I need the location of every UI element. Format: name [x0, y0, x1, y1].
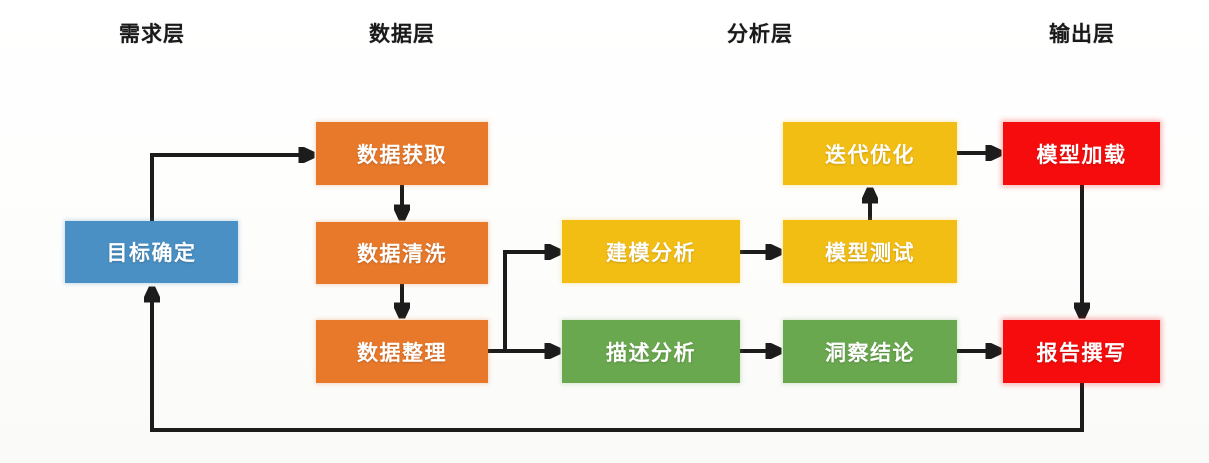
- node-modeling-analysis[interactable]: 建模分析: [562, 220, 740, 283]
- node-goal-label: 目标确定: [107, 237, 197, 267]
- node-model-test-label: 模型测试: [825, 237, 915, 267]
- node-report-writing-label: 报告撰写: [1037, 337, 1127, 367]
- node-goal[interactable]: 目标确定: [65, 221, 238, 283]
- node-descriptive-analysis[interactable]: 描述分析: [562, 320, 740, 383]
- node-data-clean[interactable]: 数据清洗: [316, 222, 488, 284]
- node-modeling-analysis-label: 建模分析: [606, 237, 696, 267]
- node-insight-conclusion[interactable]: 洞察结论: [783, 320, 957, 383]
- edge-organize-to-modeling: [488, 252, 558, 351]
- edge-goal-to-acquire: [152, 155, 312, 221]
- node-data-acquire[interactable]: 数据获取: [316, 122, 488, 185]
- node-iterative-optimization-label: 迭代优化: [825, 139, 915, 169]
- node-model-load-label: 模型加载: [1037, 139, 1127, 169]
- node-model-test[interactable]: 模型测试: [783, 220, 957, 283]
- column-header-demand: 需求层: [119, 18, 185, 48]
- column-header-analysis: 分析层: [727, 18, 793, 48]
- node-model-load[interactable]: 模型加载: [1003, 122, 1160, 185]
- node-data-organize-label: 数据整理: [357, 337, 447, 367]
- node-data-clean-label: 数据清洗: [357, 238, 447, 268]
- node-insight-conclusion-label: 洞察结论: [825, 337, 915, 367]
- node-descriptive-analysis-label: 描述分析: [606, 337, 696, 367]
- column-header-data: 数据层: [369, 18, 435, 48]
- node-iterative-optimization[interactable]: 迭代优化: [783, 122, 957, 185]
- flowchart-canvas: 需求层 数据层 分析层 输出层: [0, 0, 1209, 463]
- node-data-acquire-label: 数据获取: [357, 139, 447, 169]
- node-data-organize[interactable]: 数据整理: [316, 320, 488, 383]
- node-report-writing[interactable]: 报告撰写: [1003, 320, 1160, 383]
- column-header-output: 输出层: [1049, 18, 1115, 48]
